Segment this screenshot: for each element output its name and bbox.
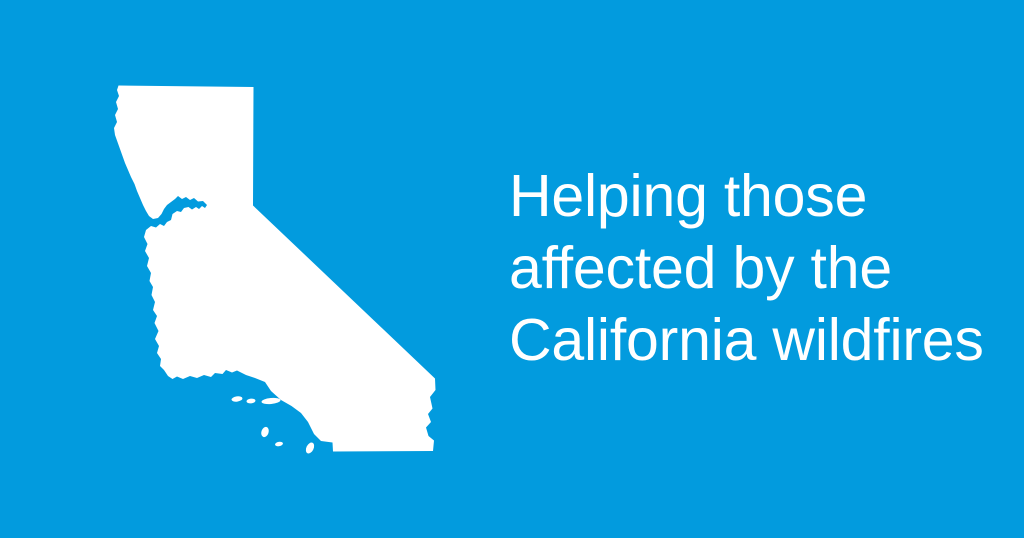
headline-line-3: California wildfires bbox=[509, 304, 969, 376]
channel-island-san-nicolas bbox=[275, 441, 284, 447]
channel-island-santa-barbara bbox=[260, 426, 270, 438]
channel-island-san-clemente bbox=[304, 441, 316, 455]
california-mainland-shape bbox=[114, 86, 436, 452]
california-map-icon bbox=[95, 70, 455, 470]
channel-island-santa-cruz bbox=[261, 397, 280, 405]
california-map bbox=[95, 70, 455, 470]
wildfire-relief-banner: Helping those affected by the California… bbox=[0, 0, 1024, 538]
channel-island-san-miguel bbox=[231, 396, 243, 403]
channel-island-santa-rosa bbox=[246, 398, 255, 404]
headline-line-2: affected by the bbox=[509, 232, 969, 304]
headline: Helping those affected by the California… bbox=[509, 160, 969, 376]
headline-line-1: Helping those bbox=[509, 160, 969, 232]
